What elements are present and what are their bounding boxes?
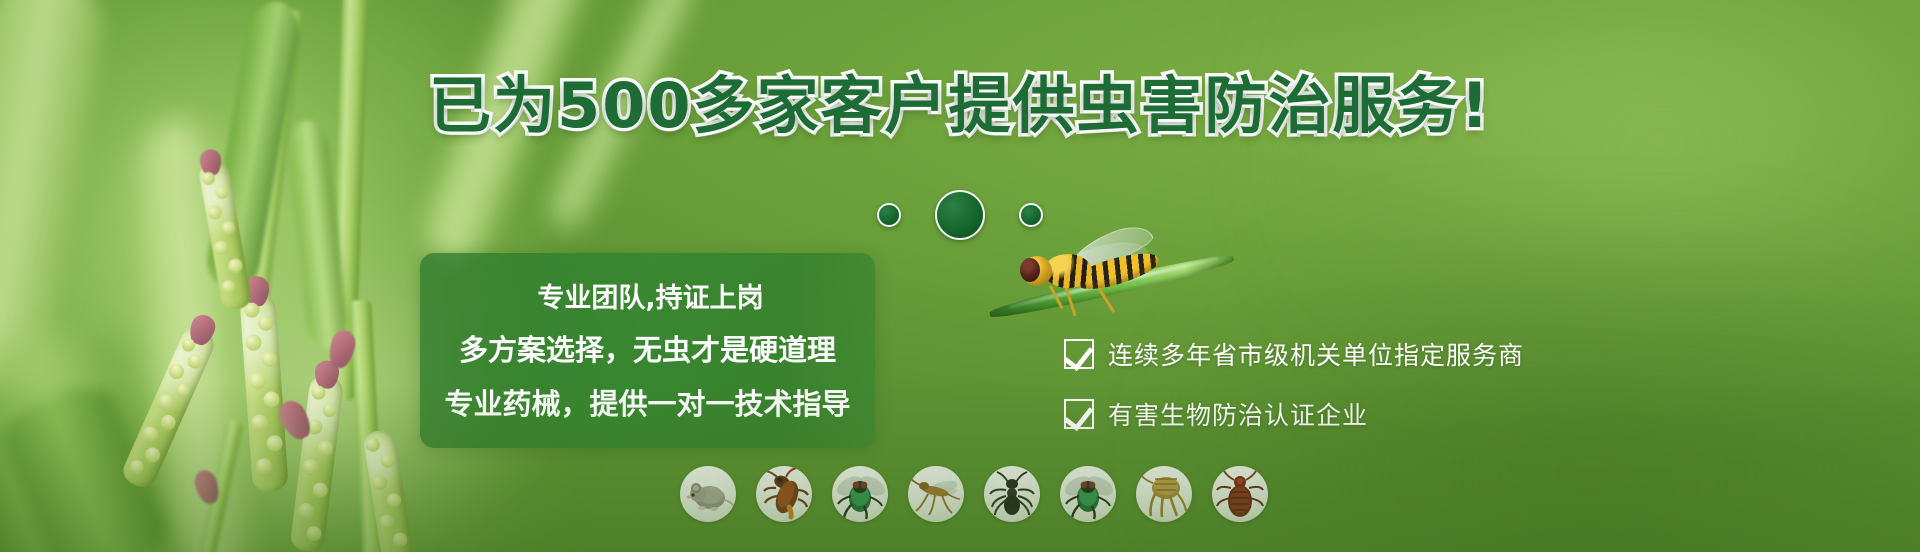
panel-line-2: 多方案选择，无虫才是硬道理 [420, 327, 875, 369]
panel-line-1: 专业团队,持证上岗 [420, 276, 875, 315]
decor-dot-small-right [1019, 203, 1043, 227]
checklist-item: 连续多年省市级机关单位指定服务商 [1064, 336, 1524, 372]
checklist-item-label: 连续多年省市级机关单位指定服务商 [1108, 336, 1524, 372]
decor-dot-large-center [935, 190, 985, 240]
pest-control-hero-banner: 已为500多家客户提供虫害防治服务! 专业团队,持证上岗 多方案选择，无虫才是硬… [0, 0, 1920, 552]
decorative-dot-row [0, 190, 1920, 240]
bottom-shade-overlay [0, 382, 1920, 552]
decor-dot-small-left [877, 203, 901, 227]
hoverfly-eye [1020, 258, 1040, 282]
checkbox-checked-icon [1064, 339, 1094, 369]
hoverfly-on-grass-illustration [1000, 232, 1220, 342]
